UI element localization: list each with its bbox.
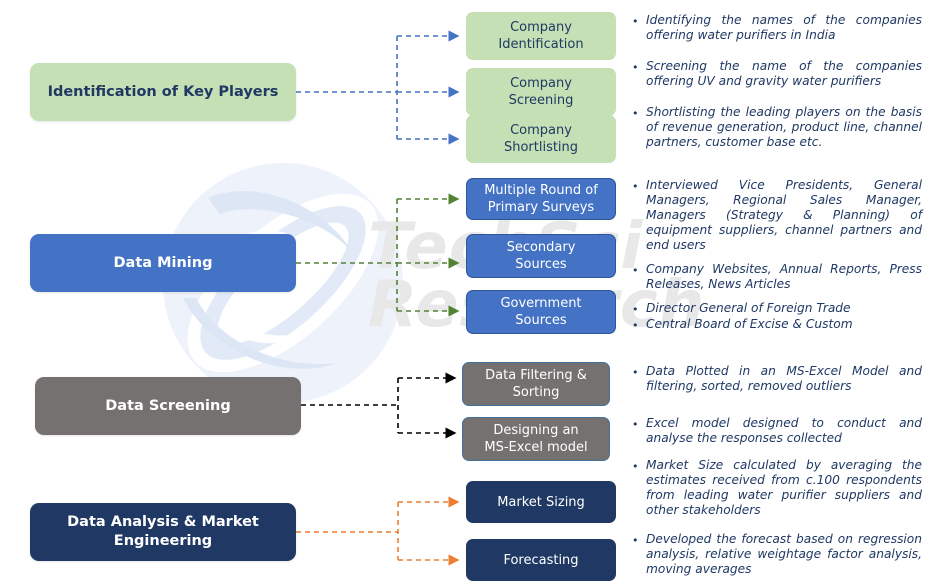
sub-box-multiple-round-of-primary-surveys[interactable]: Multiple Round ofPrimary Surveys [466,178,616,220]
bullet-marker: • [632,105,646,121]
sub-box-label: Data Filtering &Sorting [485,367,587,401]
main-box-data-screening[interactable]: Data Screening [35,377,301,435]
bullet-text: Screening the name of the companies offe… [646,59,922,89]
list-item: • Identifying the names of the companies… [632,13,922,43]
sub-box-label: CompanyIdentification [498,19,583,53]
sub-box-label: Market Sizing [497,494,585,511]
sub-box-company-shortlisting[interactable]: CompanyShortlisting [466,115,616,163]
bullet-text: Market Size calculated by averaging the … [646,458,922,518]
bullet-marker: • [632,59,646,75]
list-item: • Market Size calculated by averaging th… [632,458,922,518]
bullet-marker: • [632,178,646,194]
sub-box-label: CompanyScreening [509,75,574,109]
list-item: • Developed the forecast based on regres… [632,532,922,577]
bullet-marker: • [632,416,646,432]
bullet-marker: • [632,13,646,29]
bullet-text: Director General of Foreign Trade [646,301,922,316]
sub-box-government-sources[interactable]: GovernmentSources [466,290,616,334]
bullet-text: Excel model designed to conduct and anal… [646,416,922,446]
bullet-group-data-mining: • Interviewed Vice Presidents, General M… [632,178,922,333]
sub-box-forecasting[interactable]: Forecasting [466,539,616,581]
main-box-data-mining[interactable]: Data Mining [30,234,296,292]
sub-box-company-identification[interactable]: CompanyIdentification [466,12,616,60]
bullet-text: Central Board of Excise & Custom [646,317,922,332]
bullet-text: Shortlisting the leading players on the … [646,105,922,150]
bullet-marker: • [632,317,646,333]
sub-box-label: Multiple Round ofPrimary Surveys [484,182,598,216]
bullet-text: Company Websites, Annual Reports, Press … [646,262,922,292]
main-box-identification-of-key-players[interactable]: Identification of Key Players [30,63,296,121]
main-box-label: Identification of Key Players [48,83,279,102]
main-box-data-analysis-and-market-engineering[interactable]: Data Analysis & Market Engineering [30,503,296,561]
list-item: • Central Board of Excise & Custom [632,317,922,333]
bullet-marker: • [632,364,646,380]
sub-box-market-sizing[interactable]: Market Sizing [466,481,616,523]
research-methodology-diagram: TechSciResearch [0,0,928,585]
bullet-marker: • [632,532,646,548]
bullet-text: Interviewed Vice Presidents, General Man… [646,178,922,253]
sub-box-company-screening[interactable]: CompanyScreening [466,68,616,116]
list-item: • Excel model designed to conduct and an… [632,416,922,446]
list-item: • Company Websites, Annual Reports, Pres… [632,262,922,292]
sub-box-designing-an-ms-excel-model[interactable]: Designing anMS-Excel model [462,417,610,461]
list-item: • Shortlisting the leading players on th… [632,105,922,150]
list-item: • Director General of Foreign Trade [632,301,922,317]
main-box-label: Data Mining [114,254,213,273]
sub-box-label: GovernmentSources [500,295,581,329]
main-box-label: Data Screening [105,397,230,416]
list-item: • Screening the name of the companies of… [632,59,922,89]
sub-box-label: Designing anMS-Excel model [484,422,587,456]
list-item: • Interviewed Vice Presidents, General M… [632,178,922,253]
bullet-marker: • [632,262,646,278]
bullet-text: Data Plotted in an MS-Excel Model and fi… [646,364,922,394]
bullet-marker: • [632,301,646,317]
sub-box-label: Forecasting [503,552,578,569]
bullet-group-identification-of-key-players: • Identifying the names of the companies… [632,13,922,150]
list-item: • Data Plotted in an MS-Excel Model and … [632,364,922,394]
sub-box-label: SecondarySources [507,239,576,273]
bullet-group-data-screening: • Data Plotted in an MS-Excel Model and … [632,364,922,446]
sub-box-data-filtering-and-sorting[interactable]: Data Filtering &Sorting [462,362,610,406]
bullet-text: Identifying the names of the companies o… [646,13,922,43]
main-box-label: Data Analysis & Market Engineering [44,513,282,551]
boxes-layer: Identification of Key Players CompanyIde… [0,0,928,585]
bullet-marker: • [632,458,646,474]
bullet-text: Developed the forecast based on regressi… [646,532,922,577]
sub-box-label: CompanyShortlisting [504,122,578,156]
sub-box-secondary-sources[interactable]: SecondarySources [466,234,616,278]
bullet-group-data-analysis-and-market-engineering: • Market Size calculated by averaging th… [632,458,922,577]
